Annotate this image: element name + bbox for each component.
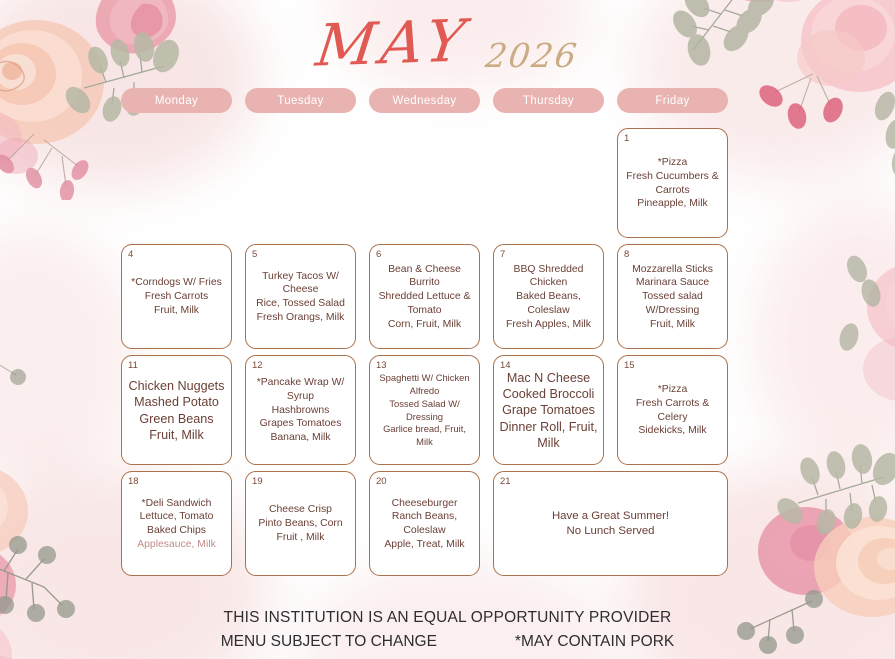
menu-text: CheeseburgerRanch Beans,ColeslawApple, T… (373, 497, 476, 552)
menu-line: *Pizza (623, 383, 722, 397)
menu-text: *Deli SandwichLettuce, TomatoBaked Chips… (125, 497, 228, 552)
day-number: 13 (376, 361, 387, 371)
menu-line: Chicken Nuggets (127, 378, 226, 394)
menu-text: Mac N CheeseCooked BroccoliGrape Tomatoe… (497, 370, 600, 452)
menu-line: Hashbrowns (251, 404, 350, 418)
menu-line: Syrup (251, 390, 350, 404)
calendar-week-row: 18*Deli SandwichLettuce, TomatoBaked Chi… (121, 471, 796, 576)
calendar-day-cell-14[interactable]: 14Mac N CheeseCooked BroccoliGrape Tomat… (493, 355, 604, 465)
menu-text: *Pancake Wrap W/SyrupHashbrownsGrapes To… (249, 376, 352, 445)
menu-line: Sidekicks, Milk (623, 424, 722, 438)
menu-line: Celery (623, 411, 722, 425)
weekday-column: Wednesday (369, 88, 480, 113)
year-label: 2026 (483, 36, 580, 75)
menu-line: Mozzarella Sticks (623, 263, 722, 277)
menu-text: BBQ ShreddedChickenBaked Beans,ColeslawF… (497, 263, 600, 332)
menu-line: Fruit, Milk (127, 427, 226, 443)
day-number: 6 (376, 250, 381, 260)
menu-line: Tossed Salad W/ (375, 398, 474, 411)
menu-line: Cheese (251, 283, 350, 297)
weekday-header-thursday[interactable]: Thursday (493, 88, 604, 113)
weekday-column: Monday (121, 88, 232, 113)
menu-line: Alfredo (375, 385, 474, 398)
calendar-page: MAY2026 MondayTuesdayWednesdayThursdayFr… (0, 0, 895, 659)
calendar-cell-empty (493, 128, 604, 238)
weekday-header-wednesday[interactable]: Wednesday (369, 88, 480, 113)
calendar-day-cell-12[interactable]: 12*Pancake Wrap W/SyrupHashbrownsGrapes … (245, 355, 356, 465)
day-number: 11 (128, 361, 138, 371)
menu-line: Fruit, Milk (127, 304, 226, 318)
menu-line: Fruit , Milk (251, 531, 350, 545)
footer-may-contain-pork: *MAY CONTAIN PORK (515, 633, 674, 651)
menu-line: BBQ Shredded (499, 263, 598, 277)
menu-line: Marinara Sauce (623, 276, 722, 290)
day-number: 15 (624, 361, 635, 371)
menu-line: *Corndogs W/ Fries (127, 276, 226, 290)
calendar-day-cell-7[interactable]: 7BBQ ShreddedChickenBaked Beans,Coleslaw… (493, 244, 604, 349)
calendar-cell-empty (121, 128, 232, 238)
menu-line: Rice, Tossed Salad (251, 297, 350, 311)
menu-line: Coleslaw (499, 304, 598, 318)
calendar-day-cell-4[interactable]: 4*Corndogs W/ FriesFresh CarrotsFruit, M… (121, 244, 232, 349)
menu-line: Corn, Fruit, Milk (375, 318, 474, 332)
calendar-day-cell-20[interactable]: 20CheeseburgerRanch Beans,ColeslawApple,… (369, 471, 480, 576)
menu-line: Apple, Treat, Milk (375, 538, 474, 552)
day-number: 21 (500, 477, 511, 487)
calendar-title: MAY2026 (0, 14, 895, 84)
menu-line: Bean & Cheese (375, 263, 474, 277)
footer-equal-opportunity: THIS INSTITUTION IS AN EQUAL OPPORTUNITY… (0, 609, 895, 627)
bg-wash-left (0, 230, 140, 490)
day-number: 12 (252, 361, 263, 371)
menu-line: Ranch Beans, (375, 510, 474, 524)
calendar-day-cell-5[interactable]: 5Turkey Tacos W/CheeseRice, Tossed Salad… (245, 244, 356, 349)
weeks-container: 1*PizzaFresh Cucumbers &CarrotsPineapple… (121, 128, 796, 576)
menu-line: Mac N Cheese (499, 370, 598, 386)
weekday-header-monday[interactable]: Monday (121, 88, 232, 113)
menu-line: No Lunch Served (499, 524, 722, 539)
calendar-week-row: 11Chicken NuggetsMashed PotatoGreen Bean… (121, 355, 796, 465)
menu-line: Spaghetti W/ Chicken (375, 372, 474, 385)
calendar-day-cell-6[interactable]: 6Bean & CheeseBurritoShredded Lettuce &T… (369, 244, 480, 349)
menu-text: *PizzaFresh Cucumbers &CarrotsPineapple,… (621, 156, 724, 211)
menu-line: Banana, Milk (251, 431, 350, 445)
menu-line: Cooked Broccoli (499, 386, 598, 402)
footer-secondary-row: MENU SUBJECT TO CHANGE *MAY CONTAIN PORK (0, 633, 895, 651)
menu-line: Burrito (375, 276, 474, 290)
weekday-column: Tuesday (245, 88, 356, 113)
calendar-cell-empty (369, 128, 480, 238)
floral-decoration-mid-left (0, 255, 80, 435)
menu-line: Dinner Roll, Fruit, (499, 419, 598, 435)
calendar-day-cell-13[interactable]: 13Spaghetti W/ ChickenAlfredoTossed Sala… (369, 355, 480, 465)
calendar-day-cell-18[interactable]: 18*Deli SandwichLettuce, TomatoBaked Chi… (121, 471, 232, 576)
menu-line: Pineapple, Milk (623, 197, 722, 211)
menu-line: Pinto Beans, Corn (251, 517, 350, 531)
menu-line: Fruit, Milk (623, 318, 722, 332)
calendar-footer: THIS INSTITUTION IS AN EQUAL OPPORTUNITY… (0, 609, 895, 651)
menu-text: Bean & CheeseBurritoShredded Lettuce &To… (373, 263, 476, 332)
menu-line: Turkey Tacos W/ (251, 270, 350, 284)
menu-line: Dressing (375, 411, 474, 424)
menu-line: Grapes Tomatoes (251, 417, 350, 431)
weekday-header-tuesday[interactable]: Tuesday (245, 88, 356, 113)
menu-line: Grape Tomatoes (499, 402, 598, 418)
menu-line: Baked Beans, (499, 290, 598, 304)
calendar-day-cell-15[interactable]: 15*PizzaFresh Carrots &CelerySidekicks, … (617, 355, 728, 465)
menu-line: Tomato (375, 304, 474, 318)
day-number: 18 (128, 477, 139, 487)
menu-line: Fresh Carrots & (623, 397, 722, 411)
menu-text: *Corndogs W/ FriesFresh CarrotsFruit, Mi… (125, 276, 228, 317)
menu-line: Fresh Apples, Milk (499, 318, 598, 332)
day-number: 1 (624, 134, 629, 144)
menu-line: *Pancake Wrap W/ (251, 376, 350, 390)
weekday-column: Friday (617, 88, 728, 113)
menu-line: Milk (375, 436, 474, 449)
weekday-column: Thursday (493, 88, 604, 113)
day-number: 20 (376, 477, 387, 487)
menu-line: Carrots (623, 184, 722, 198)
day-number: 4 (128, 250, 133, 260)
menu-line: Cheeseburger (375, 497, 474, 511)
menu-text: Mozzarella SticksMarinara SauceTossed sa… (621, 263, 724, 332)
menu-line: Coleslaw (375, 524, 474, 538)
menu-line: W/Dressing (623, 304, 722, 318)
menu-line: Tossed salad (623, 290, 722, 304)
floral-decoration-mid-right (795, 245, 895, 430)
footer-menu-subject-to-change: MENU SUBJECT TO CHANGE (221, 633, 437, 651)
weekday-header-row: MondayTuesdayWednesdayThursdayFriday (121, 88, 796, 113)
day-number: 19 (252, 477, 263, 487)
menu-line: Fresh Carrots (127, 290, 226, 304)
menu-line: Baked Chips (127, 524, 226, 538)
menu-line: Chicken (499, 276, 598, 290)
calendar-day-cell-1[interactable]: 1*PizzaFresh Cucumbers &CarrotsPineapple… (617, 128, 728, 238)
day-number: 14 (500, 361, 511, 371)
menu-line: Lettuce, Tomato (127, 510, 226, 524)
menu-line: Cheese Crisp (251, 503, 350, 517)
menu-line: Mashed Potato (127, 394, 226, 410)
day-number: 7 (500, 250, 505, 260)
menu-line: Fresh Orangs, Milk (251, 311, 350, 325)
menu-line: Shredded Lettuce & (375, 290, 474, 304)
menu-line: Green Beans (127, 411, 226, 427)
menu-text: Chicken NuggetsMashed PotatoGreen BeansF… (125, 378, 228, 443)
calendar-week-row: 4*Corndogs W/ FriesFresh CarrotsFruit, M… (121, 244, 796, 349)
menu-line: *Pizza (623, 156, 722, 170)
day-number: 5 (252, 250, 257, 260)
menu-text: Spaghetti W/ ChickenAlfredoTossed Salad … (373, 372, 476, 450)
menu-line: Have a Great Summer! (499, 509, 722, 524)
day-number: 8 (624, 250, 629, 260)
menu-line: Garlice bread, Fruit, (375, 423, 474, 436)
calendar-day-cell-21[interactable]: 21Have a Great Summer!No Lunch Served (493, 471, 728, 576)
menu-text: Turkey Tacos W/CheeseRice, Tossed SaladF… (249, 270, 352, 325)
menu-text: Cheese CrispPinto Beans, CornFruit , Mil… (249, 503, 352, 544)
month-label: MAY (313, 11, 473, 74)
menu-line: *Deli Sandwich (127, 497, 226, 511)
calendar-cell-empty (245, 128, 356, 238)
calendar-week-row: 1*PizzaFresh Cucumbers &CarrotsPineapple… (121, 128, 796, 238)
menu-text: *PizzaFresh Carrots &CelerySidekicks, Mi… (621, 383, 724, 438)
calendar-grid: MondayTuesdayWednesdayThursdayFriday 1*P… (121, 88, 796, 576)
menu-line: Fresh Cucumbers & (623, 170, 722, 184)
weekday-header-friday[interactable]: Friday (617, 88, 728, 113)
menu-text: Have a Great Summer!No Lunch Served (497, 509, 724, 539)
menu-line-secondary: Applesauce, Milk (127, 538, 226, 552)
calendar-day-cell-19[interactable]: 19Cheese CrispPinto Beans, CornFruit , M… (245, 471, 356, 576)
menu-line: Milk (499, 435, 598, 451)
calendar-day-cell-11[interactable]: 11Chicken NuggetsMashed PotatoGreen Bean… (121, 355, 232, 465)
calendar-day-cell-8[interactable]: 8Mozzarella SticksMarinara SauceTossed s… (617, 244, 728, 349)
